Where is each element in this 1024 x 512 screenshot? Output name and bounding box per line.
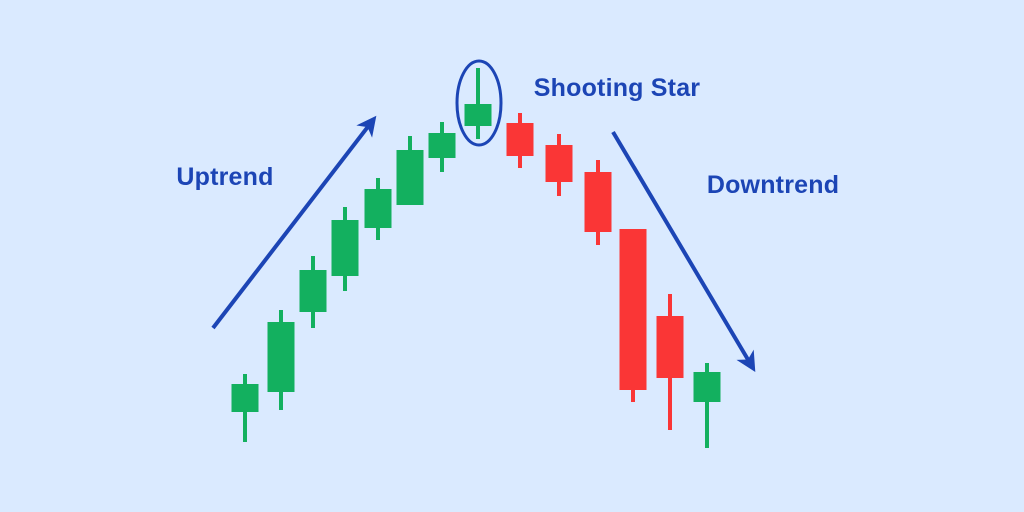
candle-body	[365, 189, 392, 228]
candlestick-chart: Uptrend Shooting Star Downtrend	[0, 0, 1024, 512]
candle-body	[507, 123, 534, 156]
candle-3-bullish	[300, 256, 327, 328]
candle-body	[268, 322, 295, 392]
candle-wick	[476, 68, 480, 139]
candle-body	[232, 384, 259, 412]
candle-13-bearish	[657, 294, 684, 430]
candle-series	[232, 68, 721, 448]
candle-body	[465, 104, 492, 126]
candle-body	[657, 316, 684, 378]
candle-body	[620, 229, 647, 390]
candle-14-bullish	[694, 363, 721, 448]
candle-12-bearish	[620, 229, 647, 402]
shooting-star-label: Shooting Star	[534, 74, 701, 102]
candle-body	[546, 145, 573, 182]
candle-6-bullish	[397, 136, 424, 205]
candle-11-bearish	[585, 160, 612, 245]
candle-body	[585, 172, 612, 232]
candle-2-bullish	[268, 310, 295, 410]
candle-8-bullish	[465, 68, 492, 139]
candle-body	[694, 372, 721, 402]
candle-7-bullish	[429, 122, 456, 172]
candle-body	[397, 150, 424, 205]
candle-4-bullish	[332, 207, 359, 291]
candle-10-bearish	[546, 134, 573, 196]
candle-body	[429, 133, 456, 158]
candle-1-bullish	[232, 374, 259, 442]
candle-5-bullish	[365, 178, 392, 240]
candle-9-bearish	[507, 113, 534, 168]
uptrend-label: Uptrend	[176, 163, 273, 191]
candle-body	[332, 220, 359, 276]
diagram-canvas: Uptrend Shooting Star Downtrend	[0, 0, 1024, 512]
downtrend-label: Downtrend	[707, 171, 839, 199]
candle-body	[300, 270, 327, 312]
